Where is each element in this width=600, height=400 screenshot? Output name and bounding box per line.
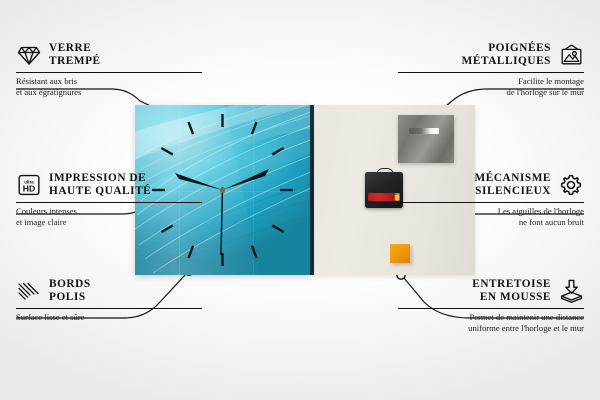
clock-glass-edge: [310, 105, 314, 275]
feature-rule: [398, 202, 584, 203]
polished-edges-icon: [16, 279, 42, 303]
feature-rule: [16, 202, 202, 203]
feature-description: Résistant aux bris et aux égratignures: [16, 76, 202, 97]
feature-description: Couleurs intenses et image claire: [16, 206, 202, 227]
feature-rule: [16, 72, 202, 73]
diamond-icon: [16, 43, 42, 67]
metallic-hanger-part: [398, 115, 454, 163]
mechanism-battery: [368, 193, 400, 201]
feature-title: POIGNÉES MÉTALLIQUES: [462, 42, 551, 69]
feature-title: MÉCANISME SILENCIEUX: [475, 172, 552, 199]
feature-title: BORDS POLIS: [49, 278, 91, 305]
feature-poignees-metalliques: POIGNÉES MÉTALLIQUES Facilite le montage…: [398, 42, 584, 98]
ultra-hd-icon-large-text: HD: [23, 184, 35, 194]
clock-center-cap: [220, 187, 225, 192]
foam-spacer-part: [390, 244, 410, 263]
feature-title: IMPRESSION DE HAUTE QUALITÉ: [49, 172, 151, 199]
feature-impression-haute-qualite: ultra HD IMPRESSION DE HAUTE QUALITÉ Cou…: [16, 172, 202, 228]
gear-icon: [558, 173, 584, 197]
ultra-hd-icon: ultra HD: [16, 173, 42, 197]
feature-verre-trempe: VERRE TREMPÉ Résistant aux bris et aux é…: [16, 42, 202, 98]
picture-frame-icon: [558, 43, 584, 67]
infographic-canvas: VERRE TREMPÉ Résistant aux bris et aux é…: [0, 0, 600, 400]
second-hand: [221, 187, 223, 255]
feature-description: Permet de maintenir une distance uniform…: [398, 312, 584, 333]
feature-description: Facilite le montage de l'horloge sur le …: [398, 76, 584, 97]
arrow-down-layers-icon: [558, 279, 584, 303]
feature-description: Les aiguilles de l'horloge ne font aucun…: [398, 206, 584, 227]
feature-rule: [398, 308, 584, 309]
feature-entretoise-en-mousse: ENTRETOISE EN MOUSSE Permet de maintenir…: [398, 278, 584, 334]
feature-title: ENTRETOISE EN MOUSSE: [472, 278, 551, 305]
feature-rule: [16, 308, 202, 309]
feature-title: VERRE TREMPÉ: [49, 42, 101, 69]
feature-mecanisme-silencieux: MÉCANISME SILENCIEUX Les aiguilles de l'…: [398, 172, 584, 228]
feature-description: Surface lisse et sûre: [16, 312, 202, 323]
feature-rule: [398, 72, 584, 73]
hanger-slot: [409, 128, 439, 134]
feature-bords-polis: BORDS POLIS Surface lisse et sûre: [16, 278, 202, 323]
minute-hand: [223, 169, 270, 190]
